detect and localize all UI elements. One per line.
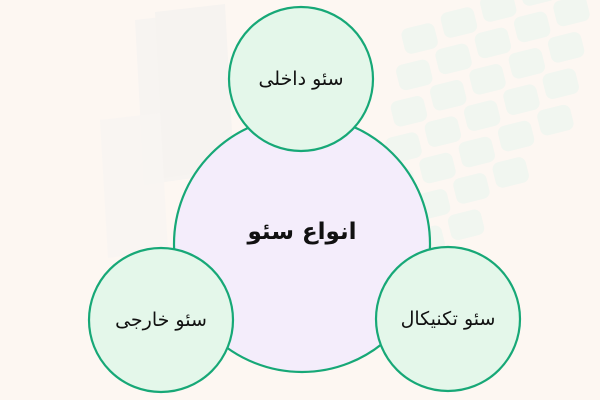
leaf-node-circle-bottom-left[interactable] [89,248,233,392]
venn-circles [0,0,600,400]
leaf-node-circle-bottom-right[interactable] [376,247,520,391]
leaf-node-circle-top[interactable] [229,7,373,151]
seo-types-venn-diagram: فردا انواع سئو سئو داخلی سئو خارجی سئو ت… [0,0,600,400]
